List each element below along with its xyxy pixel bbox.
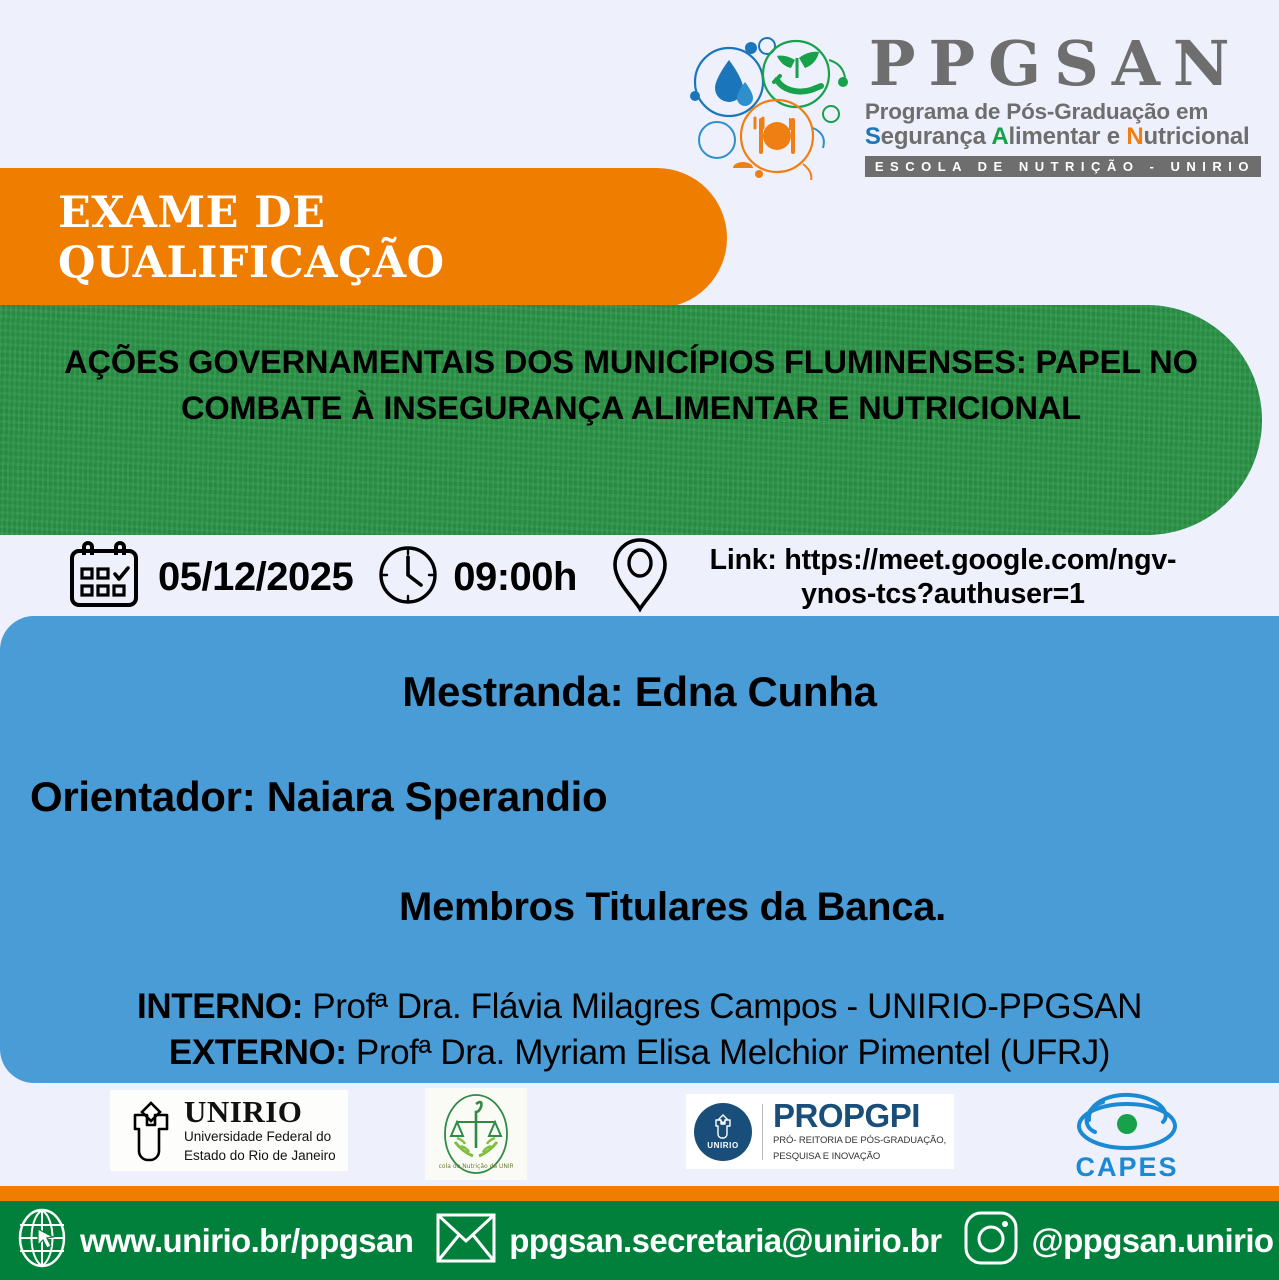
ppgsan-school-bar: ESCOLA DE NUTRIÇÃO - UNIRIO (865, 156, 1261, 177)
event-time-group: 09:00h (377, 544, 577, 611)
board-member-internal: INTERNO: Profª Dra. Flávia Milagres Camp… (30, 984, 1249, 1030)
ppgsan-logo-icons (681, 30, 851, 180)
website-url[interactable]: www.unirio.br/ppgsan (80, 1222, 413, 1260)
propgpi-name: PROPGPI (773, 1100, 946, 1131)
propgpi-logo: UNIRIO PROPGPI PRÓ- REITORIA DE PÓS-GRAD… (686, 1094, 954, 1169)
instagram-group[interactable]: @ppgsan.unirio (962, 1209, 1274, 1272)
clock-icon (377, 544, 439, 611)
email-address[interactable]: ppgsan.secretaria@unirio.br (509, 1222, 941, 1260)
escola-nutricao-label: Escola de Nutrição da UNIRIO (439, 1163, 513, 1170)
ppgsan-logo-text: PPGSAN Programa de Pós-Graduação em Segu… (865, 33, 1261, 177)
ppgsan-sub-n: N (1126, 123, 1143, 150)
capes-logo: CAPES (1065, 1090, 1189, 1183)
propgpi-tagline-2: PESQUISA E INOVAÇÃO (773, 1151, 946, 1163)
poster: PPGSAN Programa de Pós-Graduação em Segu… (0, 0, 1279, 1280)
calendar-icon (66, 539, 142, 616)
ppgsan-acronym: PPGSAN (869, 33, 1261, 95)
ppgsan-sub-eguranca: egurança (881, 123, 992, 150)
board-member-internal-role: INTERNO: (137, 987, 303, 1026)
board-heading: Membros Titulares da Banca. (96, 885, 1249, 930)
unirio-logo: UNIRIO Universidade Federal do Estado do… (110, 1090, 348, 1171)
footer-orange-stripe (0, 1186, 1279, 1201)
event-time: 09:00h (453, 555, 577, 600)
instagram-icon (962, 1209, 1020, 1272)
propgpi-seal-label: UNIRIO (707, 1141, 739, 1150)
event-link-group: Link: https://meet.google.com/ngv-ynos-t… (609, 535, 1203, 620)
board-member-external-role: EXTERNO: (169, 1033, 347, 1072)
unirio-name: UNIRIO (184, 1097, 336, 1126)
ppgsan-sub-limentar: limentar e (1009, 123, 1127, 150)
unirio-tagline-2: Estado do Rio de Janeiro (184, 1148, 336, 1164)
ppgsan-sub-a: A (991, 123, 1008, 150)
student-line: Mestranda: Edna Cunha (30, 658, 1249, 716)
participants-panel: Mestranda: Edna Cunha Orientador: Naiara… (0, 616, 1279, 1083)
ppgsan-subtitle-line1: Programa de Pós-Graduação em (865, 99, 1261, 124)
board-member-internal-name: Profª Dra. Flávia Milagres Campos - UNIR… (303, 987, 1142, 1026)
capes-mark-icon (1065, 1090, 1189, 1156)
ppgsan-sub-s: S (865, 123, 881, 150)
ppgsan-subtitle-line2: Segurança Alimentar e Nutricional (865, 124, 1261, 151)
board-members-list: INTERNO: Profª Dra. Flávia Milagres Camp… (30, 984, 1249, 1075)
event-type-label: EXAME DE QUALIFICAÇÃO (0, 188, 727, 288)
event-link[interactable]: Link: https://meet.google.com/ngv-ynos-t… (683, 543, 1203, 611)
ppgsan-sub-utricional: utricional (1144, 123, 1250, 150)
contact-footer: www.unirio.br/ppgsan ppgsan.secretaria@u… (0, 1201, 1279, 1280)
unirio-tagline-1: Universidade Federal do (184, 1129, 336, 1145)
thesis-title: AÇÕES GOVERNAMENTAIS DOS MUNICÍPIOS FLUM… (9, 305, 1253, 431)
propgpi-seal-icon: UNIRIO (694, 1103, 752, 1161)
envelope-icon (435, 1211, 497, 1270)
board-member-external-name: Profª Dra. Myriam Elisa Melchior Pimente… (347, 1033, 1110, 1072)
escola-nutricao-logo: Escola de Nutrição da UNIRIO (425, 1088, 527, 1180)
propgpi-tagline-1: PRÓ- REITORIA DE PÓS-GRADUAÇÃO, (773, 1135, 946, 1147)
capes-label: CAPES (1075, 1152, 1178, 1183)
location-pin-icon (609, 535, 671, 620)
board-member-external: EXTERNO: Profª Dra. Myriam Elisa Melchio… (30, 1030, 1249, 1076)
event-date: 05/12/2025 (158, 555, 353, 600)
event-date-group: 05/12/2025 (66, 539, 353, 616)
propgpi-divider (762, 1104, 763, 1160)
globe-icon (14, 1207, 70, 1274)
website-group[interactable]: www.unirio.br/ppgsan (14, 1207, 413, 1274)
event-details-row: 05/12/2025 09:00h Link: https://meet.goo… (0, 534, 1279, 620)
thesis-title-banner: AÇÕES GOVERNAMENTAIS DOS MUNICÍPIOS FLUM… (0, 305, 1262, 535)
ppgsan-logo: PPGSAN Programa de Pós-Graduação em Segu… (681, 30, 1261, 180)
advisor-line: Orientador: Naiara Sperandio (30, 773, 1249, 821)
instagram-handle[interactable]: @ppgsan.unirio (1032, 1222, 1274, 1260)
email-group[interactable]: ppgsan.secretaria@unirio.br (435, 1211, 941, 1270)
event-type-banner: EXAME DE QUALIFICAÇÃO (0, 168, 727, 308)
